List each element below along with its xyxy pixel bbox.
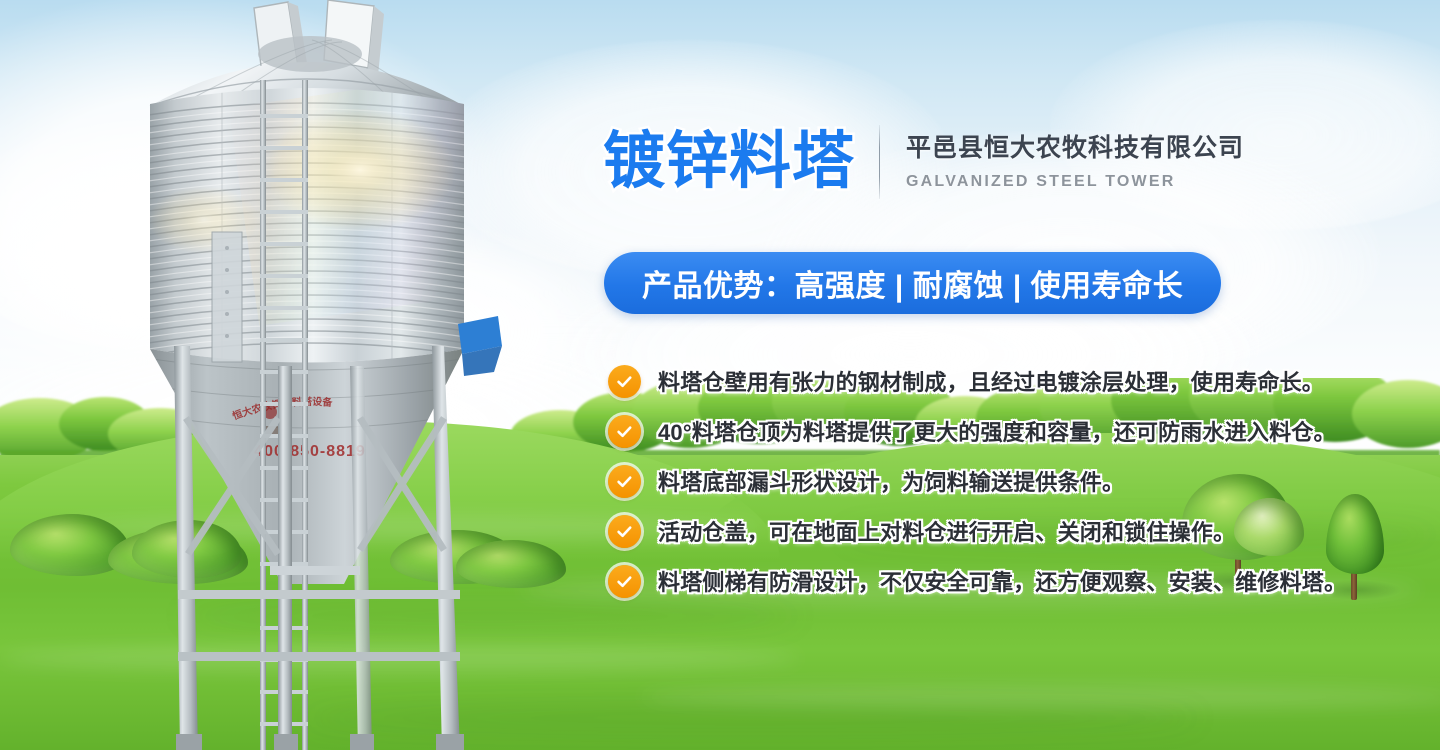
title-divider xyxy=(879,125,880,199)
check-circle-icon xyxy=(608,365,641,398)
check-circle-icon xyxy=(608,515,641,548)
list-item: 料塔仓壁用有张力的钢材制成，且经过电镀涂层处理，使用寿命长。 xyxy=(608,356,1308,406)
check-circle-icon xyxy=(608,565,641,598)
list-item-label: 料塔侧梯有防滑设计，不仅安全可靠，还方便观察、安装、维修料塔。 xyxy=(658,565,1346,597)
inspection-panel xyxy=(212,232,242,362)
feature-list: 料塔仓壁用有张力的钢材制成，且经过电镀涂层处理，使用寿命长。 40°料塔仓顶为料… xyxy=(608,356,1308,606)
sun-flare xyxy=(148,186,260,254)
list-item: 40°料塔仓顶为料塔提供了更大的强度和容量，还可防雨水进入料仓。 xyxy=(608,406,1308,456)
list-item: 料塔侧梯有防滑设计，不仅安全可靠，还方便观察、安装、维修料塔。 xyxy=(608,556,1308,606)
page-title: 镀锌料塔 xyxy=(603,131,855,193)
company-name-en: GALVANIZED STEEL TOWER xyxy=(906,173,1244,191)
title-block: 镀锌料塔 平邑县恒大农牧科技有限公司 GALVANIZED STEEL TOWE… xyxy=(603,116,1244,208)
list-item-label: 料塔底部漏斗形状设计，为饲料输送提供条件。 xyxy=(658,465,1124,497)
check-circle-icon xyxy=(608,465,641,498)
svg-text:400-850-8819: 400-850-8819 xyxy=(254,443,366,460)
advantage-pill-label: 产品优势：高强度 | 耐腐蚀 | 使用寿命长 xyxy=(642,261,1183,305)
banner-content: 镀锌料塔 平邑县恒大农牧科技有限公司 GALVANIZED STEEL TOWE… xyxy=(603,0,1303,750)
company-name: 平邑县恒大农牧科技有限公司 xyxy=(906,133,1244,164)
check-circle-icon xyxy=(608,415,641,448)
advantage-pill[interactable]: 产品优势：高强度 | 耐腐蚀 | 使用寿命长 xyxy=(604,252,1221,314)
list-item-label: 活动仓盖，可在地面上对料仓进行开启、关闭和锁住操作。 xyxy=(658,515,1235,547)
list-item: 活动仓盖，可在地面上对料仓进行开启、关闭和锁住操作。 xyxy=(608,506,1308,556)
feed-silo-image: 恒大农牧饲料料塔设备 400-850-8819 xyxy=(92,0,522,750)
hero-banner: 恒大农牧饲料料塔设备 400-850-8819 xyxy=(0,0,1440,750)
list-item-label: 40°料塔仓顶为料塔提供了更大的强度和容量，还可防雨水进入料仓。 xyxy=(658,415,1336,447)
list-item: 料塔底部漏斗形状设计，为饲料输送提供条件。 xyxy=(608,456,1308,506)
list-item-label: 料塔仓壁用有张力的钢材制成，且经过电镀涂层处理，使用寿命长。 xyxy=(658,365,1324,397)
